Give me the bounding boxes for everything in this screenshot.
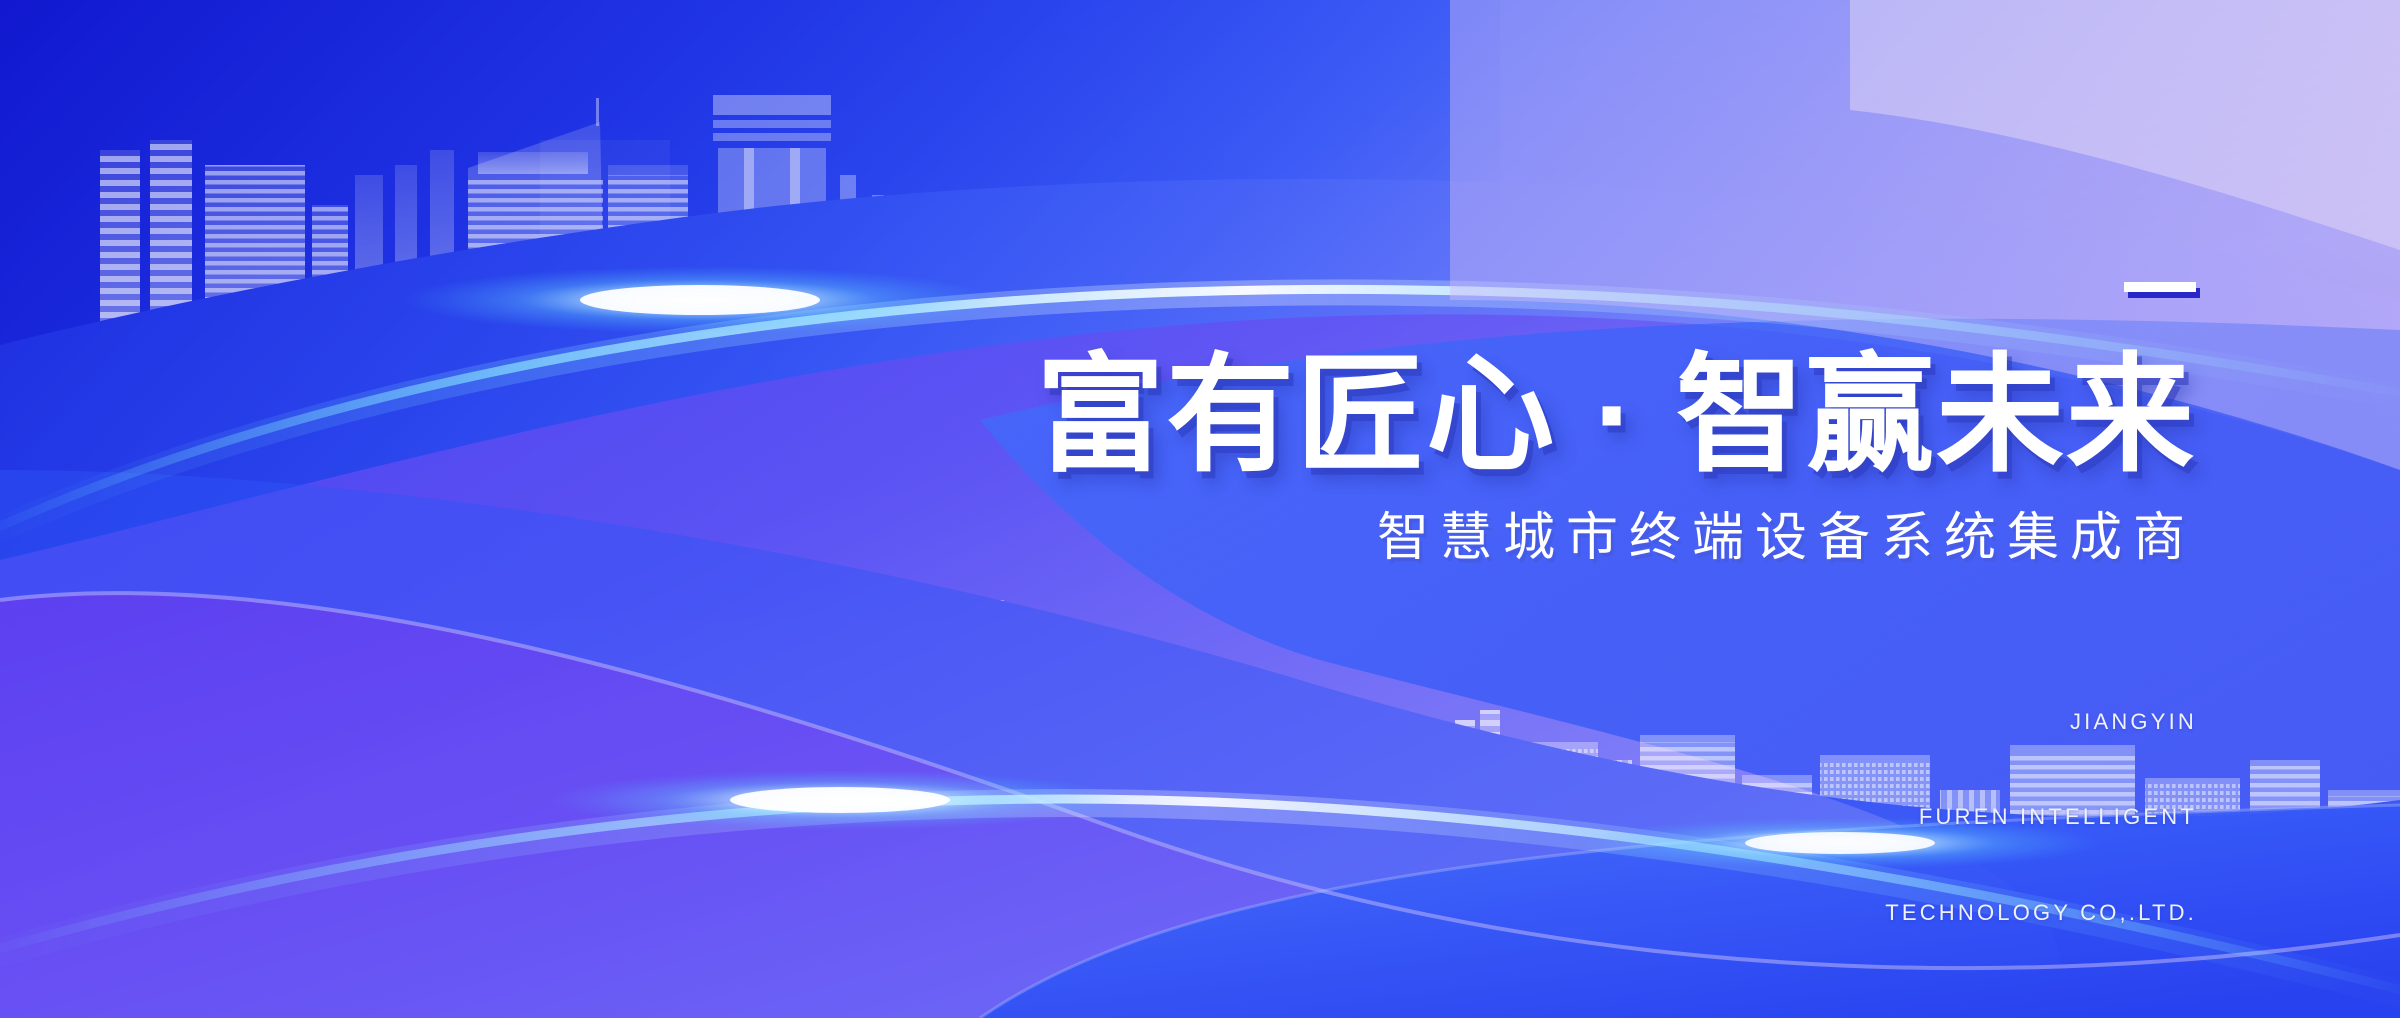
company-name-line-1: JIANGYIN: [0, 706, 2197, 738]
company-name-line-2: FUREN INTELLIGENT: [0, 801, 2197, 833]
promotional-banner: 富有匠心 · 智赢未来 智慧城市终端设备系统集成商 JIANGYIN FUREN…: [0, 0, 2400, 1018]
page-title: 富有匠心 · 智赢未来: [0, 352, 2196, 480]
company-name-english: JIANGYIN FUREN INTELLIGENT TECHNOLOGY CO…: [0, 642, 2197, 993]
company-name-line-3: TECHNOLOGY CO,.LTD.: [0, 897, 2197, 929]
accent-dash-icon: [2124, 282, 2196, 292]
page-subtitle: 智慧城市终端设备系统集成商: [0, 512, 2196, 564]
